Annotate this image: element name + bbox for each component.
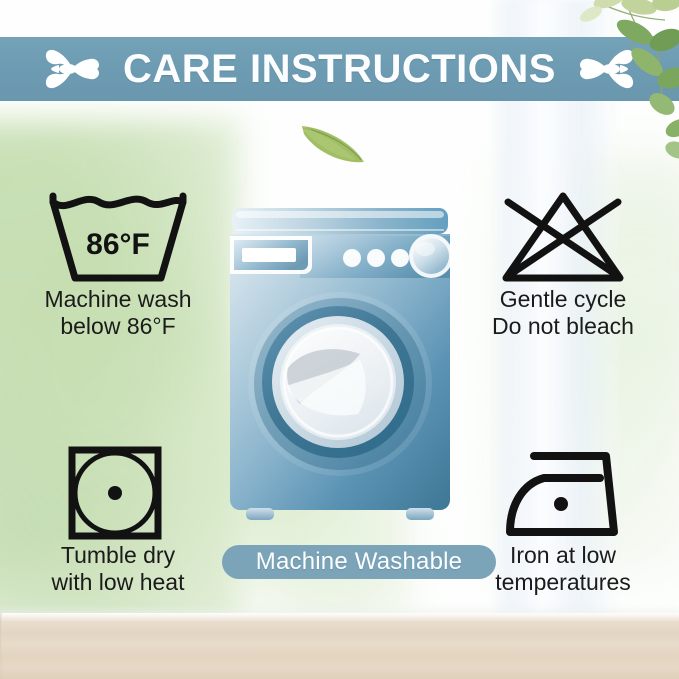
wash-temperature-label: 86°F bbox=[86, 228, 150, 261]
wash-tub-icon: 86°F bbox=[43, 188, 193, 286]
page-title: CARE INSTRUCTIONS bbox=[123, 49, 556, 89]
control-knob[interactable] bbox=[413, 238, 449, 274]
washer-foot-right bbox=[406, 508, 434, 520]
iron-low-temperature-icon bbox=[488, 444, 638, 542]
wash-tub-icon-wrapper: 86°F bbox=[10, 188, 226, 286]
caption-line-2: below 86°F bbox=[10, 313, 226, 340]
fleur-de-lis-icon bbox=[43, 47, 101, 91]
caption-line-2: with low heat bbox=[10, 569, 226, 596]
badge-label: Machine Washable bbox=[256, 550, 462, 574]
washer-lid-highlight bbox=[236, 211, 444, 218]
caption-line-1: Gentle cycle bbox=[455, 286, 671, 313]
single-leaf-icon bbox=[298, 120, 368, 168]
drawer-handle-slot[interactable] bbox=[242, 248, 296, 262]
wooden-table-surface bbox=[0, 613, 679, 679]
machine-washable-badge: Machine Washable bbox=[222, 545, 496, 579]
washer-foot-left bbox=[246, 508, 274, 520]
iron-icon-wrapper bbox=[455, 444, 671, 542]
instruction-bleach: Gentle cycle Do not bleach bbox=[455, 188, 671, 340]
instruction-dry-caption: Tumble dry with low heat bbox=[10, 542, 226, 596]
tumble-dry-low-icon bbox=[43, 444, 193, 542]
caption-line-1: Tumble dry bbox=[10, 542, 226, 569]
triangle-crossed-no-bleach-icon bbox=[488, 188, 638, 286]
instruction-dry: Tumble dry with low heat bbox=[10, 444, 226, 596]
washer-button-3[interactable] bbox=[391, 249, 409, 267]
table-wood-grain bbox=[0, 613, 679, 679]
tumble-dry-icon-wrapper bbox=[10, 444, 226, 542]
washer-button-2[interactable] bbox=[367, 249, 385, 267]
dry-heat-dot bbox=[108, 486, 122, 500]
washing-machine-illustration bbox=[228, 208, 452, 524]
instruction-wash-caption: Machine wash below 86°F bbox=[10, 286, 226, 340]
caption-line-2: Do not bleach bbox=[455, 313, 671, 340]
instruction-bleach-caption: Gentle cycle Do not bleach bbox=[455, 286, 671, 340]
leaf-cluster-icon bbox=[535, 0, 679, 162]
instruction-wash: 86°F Machine wash below 86°F bbox=[10, 188, 226, 340]
no-bleach-icon-wrapper bbox=[455, 188, 671, 286]
washer-button-1[interactable] bbox=[343, 249, 361, 267]
caption-line-1: Machine wash bbox=[10, 286, 226, 313]
iron-heat-dot bbox=[554, 497, 568, 511]
